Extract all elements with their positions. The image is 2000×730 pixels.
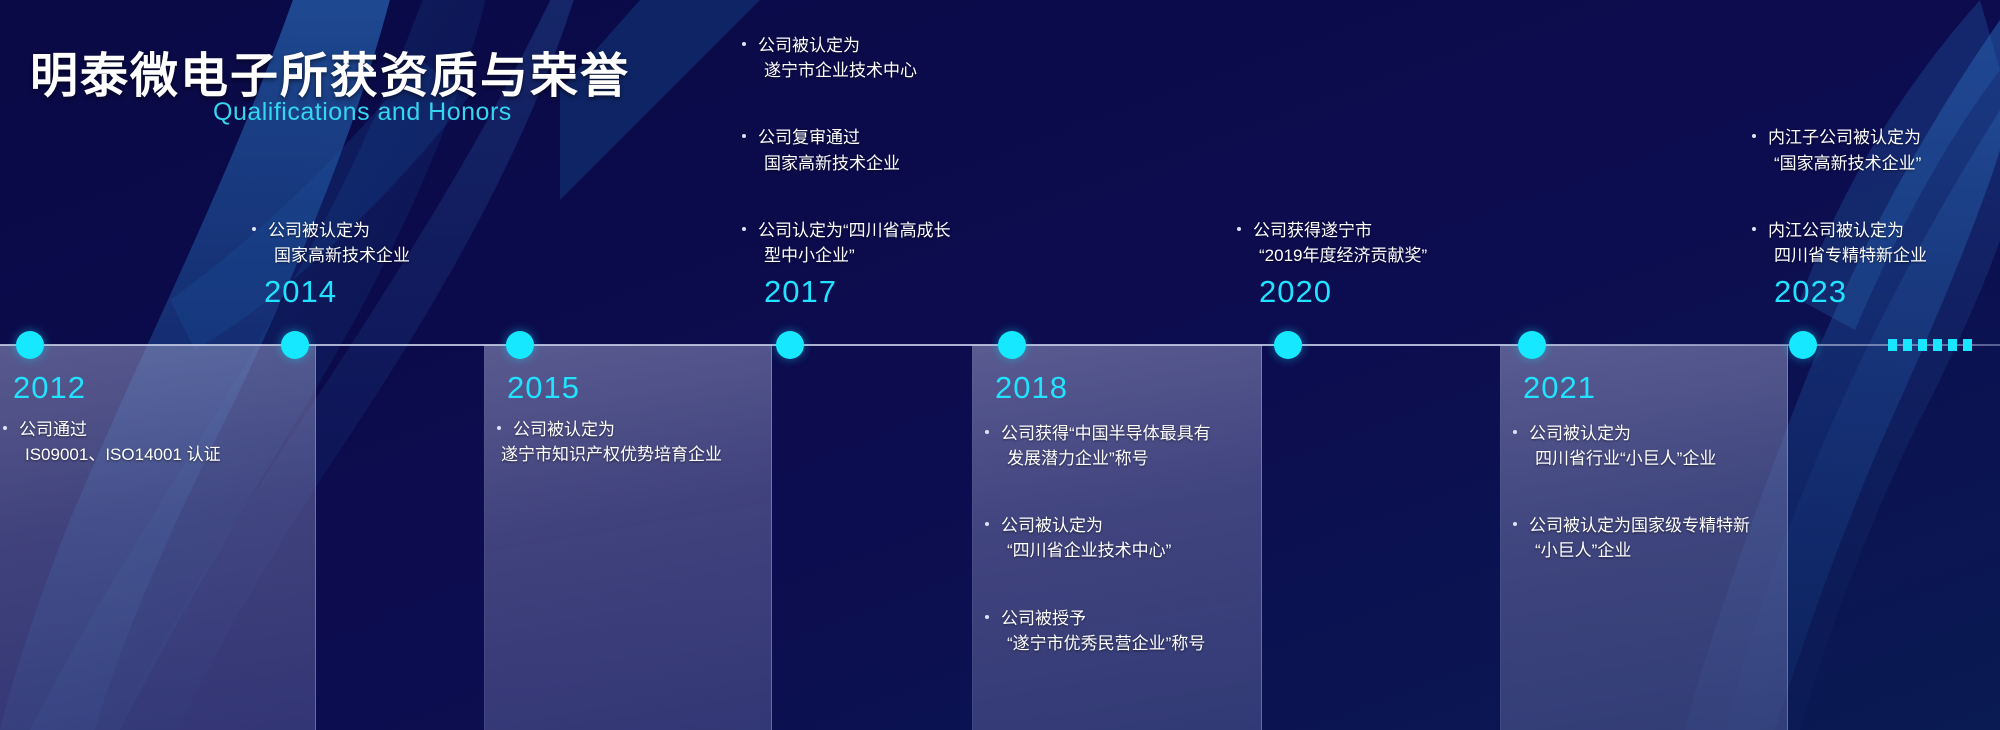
list-item: 公司被认定为 遂宁市知识产权优势培育企业 <box>495 417 785 467</box>
timeline-group-2014: 公司被认定为 国家高新技术企业 2014 <box>250 150 590 310</box>
bullet-line-2: 遂宁市知识产权优势培育企业 <box>495 442 801 467</box>
year-label-2014: 2014 <box>264 274 337 310</box>
bullet-line-2: 型中小企业” <box>758 243 1080 268</box>
slide-canvas: 明泰微电子所获资质与荣誉 Qualifications and Honors 2… <box>0 0 2000 730</box>
bullet-list-2018: 公司获得“中国半导体最具有 发展潜力企业”称号 公司被认定为 “四川省企业技术中… <box>983 421 1263 656</box>
timeline-panel-2021: 2021 公司被认定为 四川省行业“小巨人”企业 公司被认定为国家级专精特新 “… <box>1500 345 1788 730</box>
bullet-line-1: 公司被认定为 <box>1001 516 1103 535</box>
bullet-line-2: 国家高新技术企业 <box>268 243 580 268</box>
bullet-line-1: 公司获得“中国半导体最具有 <box>1001 424 1211 443</box>
timeline-group-2020: 公司获得遂宁市 “2019年度经济贡献奖” 2020 <box>1235 150 1575 310</box>
axis-dash <box>1888 339 1897 351</box>
axis-dash <box>1933 339 1942 351</box>
bullet-line-1: 公司通过 <box>19 420 87 439</box>
bullet-list-2017: 公司被认定为 遂宁市企业技术中心 公司复审通过 国家高新技术企业 公司认定为“四… <box>740 33 1080 268</box>
bullet-list-2014: 公司被认定为 国家高新技术企业 <box>250 218 580 268</box>
year-label-2023: 2023 <box>1774 274 1847 310</box>
timeline-panel-2015: 2015 公司被认定为 遂宁市知识产权优势培育企业 <box>484 345 772 730</box>
bullet-line-1: 公司被授予 <box>1001 609 1086 628</box>
bullet-list-2020: 公司获得遂宁市 “2019年度经济贡献奖” <box>1235 218 1565 268</box>
bullet-list-2012: 公司通过 IS09001、ISO14001 认证 <box>1 417 313 467</box>
bullet-line-2: 遂宁市企业技术中心 <box>758 58 1080 83</box>
timeline-dot-2018[interactable] <box>998 331 1026 359</box>
page-title: 明泰微电子所获资质与荣誉 <box>30 36 630 106</box>
year-label-2012: 2012 <box>13 370 86 406</box>
timeline-panel-2012: 2012 公司通过 IS09001、ISO14001 认证 <box>0 345 316 730</box>
axis-dash <box>1948 339 1957 351</box>
list-item: 公司被认定为 四川省行业“小巨人”企业 <box>1511 421 1796 471</box>
bullet-line-2: IS09001、ISO14001 认证 <box>19 442 313 467</box>
bullet-line-1: 公司被认定为 <box>268 221 370 240</box>
list-item: 公司认定为“四川省高成长 型中小企业” <box>740 218 1080 268</box>
page-subtitle: Qualifications and Honors <box>213 98 512 127</box>
year-label-2017: 2017 <box>764 274 837 310</box>
list-item: 公司通过 IS09001、ISO14001 认证 <box>1 417 313 467</box>
list-item: 公司被认定为 国家高新技术企业 <box>250 218 580 268</box>
list-item: 内江公司被认定为 四川省专精特新企业 <box>1750 218 2000 268</box>
bullet-line-1: 公司被认定为 <box>758 36 860 55</box>
bullet-line-2: “小巨人”企业 <box>1529 538 1796 563</box>
year-label-2021: 2021 <box>1523 370 1596 406</box>
bullet-line-1: 公司被认定为 <box>1529 424 1631 443</box>
list-item: 内江子公司被认定为 “国家高新技术企业” <box>1750 125 2000 175</box>
bullet-line-2: “遂宁市优秀民营企业”称号 <box>1001 631 1263 656</box>
list-item: 公司获得遂宁市 “2019年度经济贡献奖” <box>1235 218 1565 268</box>
axis-dash <box>1963 339 1972 351</box>
bullet-line-2: 四川省行业“小巨人”企业 <box>1529 446 1796 471</box>
bullet-line-1: 内江子公司被认定为 <box>1768 128 1921 147</box>
bullet-line-2: 四川省专精特新企业 <box>1768 243 2000 268</box>
axis-dash <box>1918 339 1927 351</box>
bullet-list-2015: 公司被认定为 遂宁市知识产权优势培育企业 <box>495 417 785 467</box>
timeline-dot-2015[interactable] <box>506 331 534 359</box>
timeline-dot-2020[interactable] <box>1274 331 1302 359</box>
bullet-line-2: 国家高新技术企业 <box>758 151 1080 176</box>
bullet-line-1: 公司被认定为国家级专精特新 <box>1529 516 1750 535</box>
bullet-list-2023: 内江子公司被认定为 “国家高新技术企业” 内江公司被认定为 四川省专精特新企业 <box>1750 125 2000 268</box>
year-label-2020: 2020 <box>1259 274 1332 310</box>
list-item: 公司复审通过 国家高新技术企业 <box>740 125 1080 175</box>
bullet-line-2: “国家高新技术企业” <box>1768 151 2000 176</box>
timeline-dot-2017[interactable] <box>776 331 804 359</box>
timeline-dot-2012[interactable] <box>16 331 44 359</box>
bullet-line-1: 内江公司被认定为 <box>1768 221 1904 240</box>
bullet-line-1: 公司获得遂宁市 <box>1253 221 1372 240</box>
timeline-dot-2021[interactable] <box>1518 331 1546 359</box>
timeline-end-dashes <box>1888 339 1972 351</box>
bullet-line-2: “2019年度经济贡献奖” <box>1253 243 1565 268</box>
timeline-dot-2014[interactable] <box>281 331 309 359</box>
list-item: 公司被认定为国家级专精特新 “小巨人”企业 <box>1511 513 1796 563</box>
axis-dash <box>1903 339 1912 351</box>
year-label-2015: 2015 <box>507 370 580 406</box>
list-item: 公司被认定为 “四川省企业技术中心” <box>983 513 1263 563</box>
timeline-panel-2018: 2018 公司获得“中国半导体最具有 发展潜力企业”称号 公司被认定为 “四川省… <box>972 345 1262 730</box>
bullet-list-2021: 公司被认定为 四川省行业“小巨人”企业 公司被认定为国家级专精特新 “小巨人”企… <box>1511 421 1796 564</box>
list-item: 公司被认定为 遂宁市企业技术中心 <box>740 33 1080 83</box>
bullet-line-2: 发展潜力企业”称号 <box>1001 446 1263 471</box>
bullet-line-1: 公司被认定为 <box>513 420 615 439</box>
year-label-2018: 2018 <box>995 370 1068 406</box>
bullet-line-1: 公司复审通过 <box>758 128 860 147</box>
bullet-line-2: “四川省企业技术中心” <box>1001 538 1263 563</box>
list-item: 公司获得“中国半导体最具有 发展潜力企业”称号 <box>983 421 1263 471</box>
bullet-line-1: 公司认定为“四川省高成长 <box>758 221 951 240</box>
timeline-group-2017: 公司被认定为 遂宁市企业技术中心 公司复审通过 国家高新技术企业 公司认定为“四… <box>740 95 1090 310</box>
list-item: 公司被授予 “遂宁市优秀民营企业”称号 <box>983 606 1263 656</box>
timeline-group-2023: 内江子公司被认定为 “国家高新技术企业” 内江公司被认定为 四川省专精特新企业 … <box>1750 130 2000 310</box>
timeline-dot-2023[interactable] <box>1789 331 1817 359</box>
